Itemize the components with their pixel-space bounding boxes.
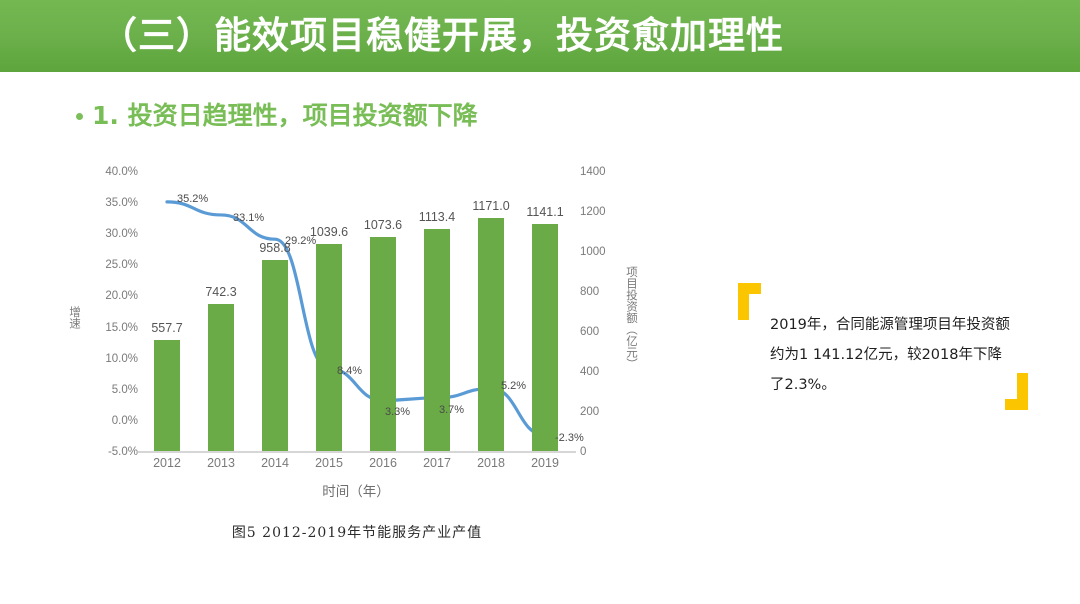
bar: [154, 340, 180, 452]
y-axis-tick: 5.0%: [112, 384, 138, 396]
subtitle-text: 1. 投资日趋理性，项目投资额下降: [92, 99, 478, 133]
growth-value-label: 3.3%: [385, 406, 410, 418]
bullet-icon: [76, 113, 83, 120]
callout-text: 2019年，合同能源管理项目年投资额约为1 141.12亿元，较2018年下降了…: [770, 310, 1010, 400]
chart-figure: 增速 项目投资额（亿元） -5.0%0.0%5.0%10.0%15.0%20.0…: [72, 160, 692, 545]
figure-caption: 图5 2012-2019年节能服务产业产值: [72, 522, 642, 542]
x-axis-tick: 2012: [153, 456, 181, 470]
y2-axis-tick: 1400: [580, 166, 606, 178]
y2-axis-tick: 1200: [580, 206, 606, 218]
x-axis-tick: 2018: [477, 456, 505, 470]
y2-axis-ticks: 0200400600800100012001400: [580, 160, 630, 545]
slide-canvas: （三）能效项目稳健开展，投资愈加理性 1. 投资日趋理性，项目投资额下降 增速 …: [0, 0, 1080, 604]
x-axis-tick: 2016: [369, 456, 397, 470]
bar: [424, 229, 450, 452]
x-axis-tick: 2014: [261, 456, 289, 470]
growth-line-series: [140, 172, 572, 452]
y2-axis-tick: 800: [580, 286, 599, 298]
x-axis-tick: 2015: [315, 456, 343, 470]
y2-axis-tick: 200: [580, 406, 599, 418]
bracket-top-left-icon: [738, 283, 761, 320]
x-axis-tick: 2019: [531, 456, 559, 470]
x-axis-tick: 2013: [207, 456, 235, 470]
y-axis-tick: 10.0%: [105, 353, 138, 365]
bar: [208, 304, 234, 452]
bar: [370, 237, 396, 452]
y-axis-tick: 0.0%: [112, 415, 138, 427]
x-axis-tick: 2017: [423, 456, 451, 470]
y-axis-tick: 20.0%: [105, 290, 138, 302]
bar: [478, 218, 504, 452]
y2-axis-tick: 400: [580, 366, 599, 378]
y-axis-tick: -5.0%: [108, 446, 138, 458]
bar-value-label: 1141.1: [526, 205, 563, 219]
x-axis-label: 时间（年）: [140, 480, 572, 500]
y2-axis-tick: 600: [580, 326, 599, 338]
bar: [532, 224, 558, 452]
y-axis-tick: 35.0%: [105, 197, 138, 209]
growth-value-label: 35.2%: [177, 193, 208, 205]
bar-value-label: 1073.6: [364, 218, 402, 232]
growth-value-label: 33.1%: [233, 212, 264, 224]
growth-value-label: -2.3%: [555, 432, 584, 444]
page-title: （三）能效项目稳健开展，投资愈加理性: [100, 11, 784, 61]
x-axis-line: [138, 451, 576, 453]
bar-value-label: 557.7: [151, 321, 182, 335]
growth-value-label: 29.2%: [285, 235, 316, 247]
y-axis-tick: 25.0%: [105, 259, 138, 271]
bar: [316, 244, 342, 452]
growth-value-label: 8.4%: [337, 365, 362, 377]
y-axis-label: 增速: [68, 306, 80, 329]
y2-axis-tick: 0: [580, 446, 586, 458]
y-axis-tick: 40.0%: [105, 166, 138, 178]
callout-box: 2019年，合同能源管理项目年投资额约为1 141.12亿元，较2018年下降了…: [738, 283, 1028, 410]
subtitle-row: 1. 投资日趋理性，项目投资额下降: [76, 99, 478, 133]
growth-value-label: 3.7%: [439, 404, 464, 416]
plot-area: 557.7742.3958.81039.61073.61113.41171.01…: [140, 172, 572, 452]
x-axis-ticks: 20122013201420152016201720182019: [140, 456, 572, 476]
growth-value-label: 5.2%: [501, 380, 526, 392]
header-band: （三）能效项目稳健开展，投资愈加理性: [0, 0, 1080, 72]
y-axis-ticks: -5.0%0.0%5.0%10.0%15.0%20.0%25.0%30.0%35…: [92, 160, 138, 545]
bar: [262, 260, 288, 452]
y-axis-tick: 15.0%: [105, 322, 138, 334]
bar-value-label: 1171.0: [472, 199, 509, 213]
y2-axis-tick: 1000: [580, 246, 606, 258]
y-axis-tick: 30.0%: [105, 228, 138, 240]
bar-value-label: 1113.4: [419, 210, 455, 224]
bar-value-label: 742.3: [205, 285, 236, 299]
